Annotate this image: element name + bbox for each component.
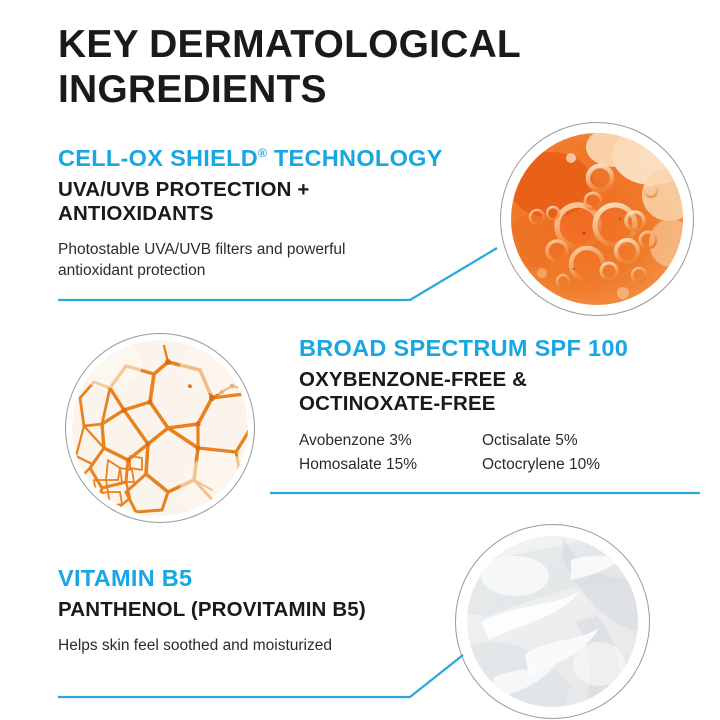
infographic-page: Key Dermatological Ingredients	[0, 0, 720, 720]
connector-line-3	[0, 0, 720, 720]
